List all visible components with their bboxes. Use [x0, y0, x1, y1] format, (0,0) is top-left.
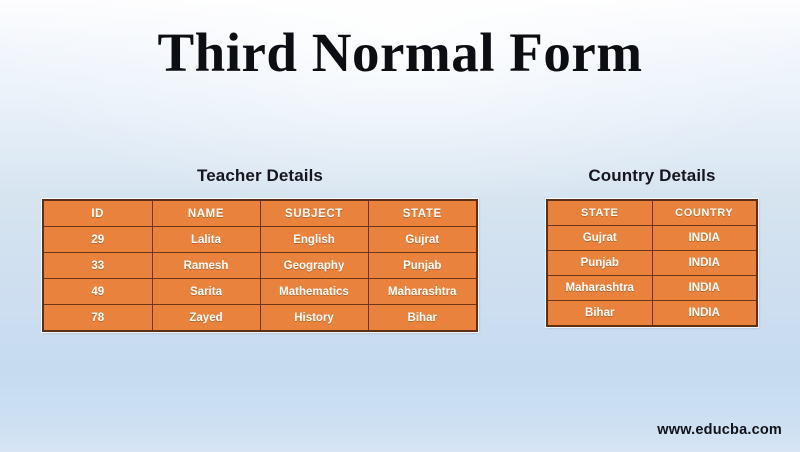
column-header-state: STATE: [368, 201, 476, 227]
country-table-heading: Country Details: [546, 166, 758, 186]
cell-country: INDIA: [652, 226, 756, 251]
table-row: Bihar INDIA: [548, 301, 756, 326]
teacher-table-frame: ID NAME SUBJECT STATE 29 Lalita English …: [42, 199, 478, 332]
cell-name: Ramesh: [152, 253, 260, 279]
column-header-state: STATE: [548, 201, 652, 226]
table-row: 49 Sarita Mathematics Maharashtra: [44, 279, 476, 305]
table-header-row: STATE COUNTRY: [548, 201, 756, 226]
cell-subject: History: [260, 305, 368, 331]
cell-name: Zayed: [152, 305, 260, 331]
cell-state: Maharashtra: [368, 279, 476, 305]
table-row: 33 Ramesh Geography Punjab: [44, 253, 476, 279]
page-title: Third Normal Form: [0, 21, 800, 85]
teacher-table: ID NAME SUBJECT STATE 29 Lalita English …: [44, 201, 476, 330]
slide-canvas: Third Normal Form Teacher Details ID NAM…: [0, 0, 800, 452]
cell-name: Lalita: [152, 227, 260, 253]
column-header-subject: SUBJECT: [260, 201, 368, 227]
cell-state: Punjab: [548, 251, 652, 276]
country-table-body: STATE COUNTRY Gujrat INDIA Punjab INDIA …: [548, 201, 756, 325]
cell-subject: Geography: [260, 253, 368, 279]
cell-name: Sarita: [152, 279, 260, 305]
table-row: 78 Zayed History Bihar: [44, 305, 476, 331]
teacher-details-section: Teacher Details ID NAME SUBJECT STATE 29…: [42, 166, 478, 332]
cell-state: Gujrat: [548, 226, 652, 251]
country-table-frame: STATE COUNTRY Gujrat INDIA Punjab INDIA …: [546, 199, 758, 327]
cell-state: Bihar: [548, 301, 652, 326]
table-header-row: ID NAME SUBJECT STATE: [44, 201, 476, 227]
cell-country: INDIA: [652, 276, 756, 301]
cell-state: Maharashtra: [548, 276, 652, 301]
teacher-table-heading: Teacher Details: [42, 166, 478, 186]
cell-state: Bihar: [368, 305, 476, 331]
column-header-country: COUNTRY: [652, 201, 756, 226]
cell-subject: Mathematics: [260, 279, 368, 305]
column-header-name: NAME: [152, 201, 260, 227]
table-row: 29 Lalita English Gujrat: [44, 227, 476, 253]
table-row: Punjab INDIA: [548, 251, 756, 276]
column-header-id: ID: [44, 201, 152, 227]
cell-subject: English: [260, 227, 368, 253]
teacher-table-body: ID NAME SUBJECT STATE 29 Lalita English …: [44, 201, 476, 330]
cell-id: 78: [44, 305, 152, 331]
table-row: Maharashtra INDIA: [548, 276, 756, 301]
cell-country: INDIA: [652, 251, 756, 276]
cell-id: 33: [44, 253, 152, 279]
cell-id: 29: [44, 227, 152, 253]
cell-state: Gujrat: [368, 227, 476, 253]
table-row: Gujrat INDIA: [548, 226, 756, 251]
country-details-section: Country Details STATE COUNTRY Gujrat IND…: [546, 166, 758, 327]
cell-state: Punjab: [368, 253, 476, 279]
watermark-url: www.educba.com: [657, 422, 782, 438]
cell-id: 49: [44, 279, 152, 305]
country-table: STATE COUNTRY Gujrat INDIA Punjab INDIA …: [548, 201, 756, 325]
cell-country: INDIA: [652, 301, 756, 326]
